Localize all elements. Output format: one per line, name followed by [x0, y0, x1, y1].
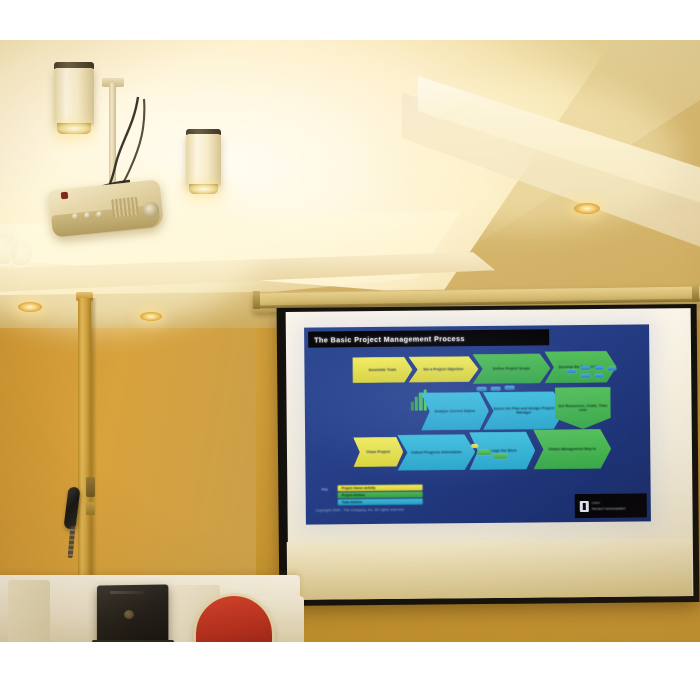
flow-badge-r1r-f	[595, 374, 604, 378]
flow-node-set-objective: Set a Project Objective	[408, 356, 478, 383]
wall-disc-b	[8, 238, 34, 268]
housing-endcap-right	[692, 284, 699, 302]
flow-node-obtain-buyin: Obtain Management Buy-in	[533, 429, 611, 470]
flow-badge-r1-b	[491, 387, 501, 391]
flow-node-select-plan: Select the Plan and Assign Project Manag…	[483, 391, 565, 430]
flow-node-define-scope: Define Project Scope	[472, 353, 550, 384]
recessed-downlight-left-a	[18, 302, 42, 312]
flow-node-analyze-status: Analyze Current Status	[421, 392, 489, 431]
logo-mark-icon	[580, 500, 589, 511]
flow-badge-r1-c	[505, 386, 515, 390]
legend-item-team: Team Actions	[338, 499, 423, 505]
legend-item-project: Project Actions	[338, 492, 423, 498]
legend-label: Key:	[322, 487, 329, 491]
laptop-logo-icon	[124, 610, 134, 619]
projection-screen-unlit-area	[287, 538, 693, 600]
flow-connector-b	[493, 454, 507, 459]
flow-badge-r1-a	[477, 387, 487, 391]
logo-text: LOGO PROJECT MANAGEMENT	[592, 501, 626, 511]
phone-wall-plate	[86, 502, 95, 515]
projector-vent	[111, 197, 139, 218]
screenshot-root: The Basic Project Management Process Ass…	[0, 0, 700, 700]
projector-knob-c	[96, 211, 103, 218]
flow-badge-r1r-d	[607, 367, 616, 371]
letterbox-bottom	[0, 642, 700, 700]
recessed-downlight-left-b	[140, 312, 162, 321]
projector-indicator-led	[61, 192, 69, 200]
slide-legend: Key: Project Owner Activity Project Acti…	[338, 485, 423, 507]
slide-title-bar: The Basic Project Management Process	[308, 329, 549, 347]
table-drape-left	[8, 580, 50, 642]
flow-node-close-project: Close Project	[353, 437, 403, 467]
flow-node-collect-progress: Collect Progress Information	[397, 434, 475, 471]
phone-mount-box	[86, 477, 95, 497]
flow-badge-r1r-a	[566, 369, 576, 373]
laptop-brand-mark	[110, 591, 144, 594]
slide-copyright: Copyright 2005 - The Company, Inc. All r…	[316, 508, 404, 513]
projector-knob-b	[84, 212, 91, 219]
projected-slide: The Basic Project Management Process Ass…	[304, 324, 651, 524]
flow-badge-r1r-c	[594, 366, 603, 370]
flow-connector-a	[477, 450, 491, 455]
housing-endcap-left	[253, 291, 260, 309]
room-photograph: The Basic Project Management Process Ass…	[0, 40, 700, 642]
flow-connector-c	[471, 444, 478, 448]
legend-item-owner: Project Owner Activity	[338, 485, 423, 491]
recessed-downlight-right	[574, 203, 600, 214]
cylinder-downlight-right-lamp	[189, 184, 218, 194]
slide-title: The Basic Project Management Process	[314, 334, 465, 344]
flow-node-assemble-team: Assemble Team	[352, 357, 412, 384]
projector-knob-a	[72, 213, 79, 220]
flow-node-get-resources: Get Resources, Costs, Time Line	[555, 387, 611, 430]
slide-logo: LOGO PROJECT MANAGEMENT	[575, 493, 647, 518]
cylinder-downlight-right	[186, 134, 221, 187]
logo-line-1: LOGO	[592, 501, 626, 505]
flow-badge-r1r-b	[580, 366, 590, 370]
letterbox-top	[0, 0, 700, 40]
logo-line-2: PROJECT MANAGEMENT	[592, 506, 626, 510]
flow-badge-r1r-e	[581, 374, 591, 378]
